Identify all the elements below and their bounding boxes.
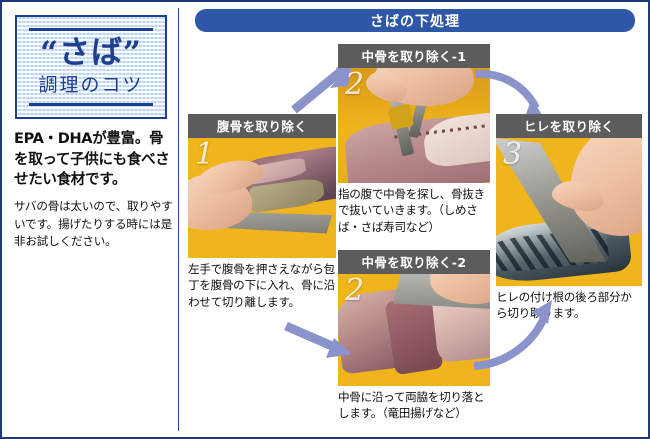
step-1-caption: 左手で腹骨を押さえながら包丁を腹骨の下に入れ、骨に沿わせて切り離します。 xyxy=(188,258,336,310)
logo-subtitle: 調理のコツ xyxy=(38,70,143,97)
page-title: さばの下処理 xyxy=(195,9,635,32)
logo-rule-bottom xyxy=(29,103,153,106)
sidebar-body-text: サバの骨は太いので、取りやすいです。揚げたりする時には是非お試しください。 xyxy=(14,198,176,251)
step-1-photo: 1 xyxy=(188,138,336,258)
step-4-caption: 中骨に沿って両脇を切り落とします。（竜田揚げなど） xyxy=(338,386,490,422)
infographic-page: “さば” 調理のコツ EPA・DHAが豊富。骨を取って子供にも食べさせたい食材で… xyxy=(0,0,650,439)
tweezer-grip xyxy=(388,104,414,130)
step-1-number: 1 xyxy=(195,140,214,170)
step-2-number: 2 xyxy=(345,70,364,100)
logo-box: “さば” 調理のコツ xyxy=(15,15,167,119)
step-2-caption: 指の腹で中骨を探し、骨抜きで抜いていきます。（しめさば・さば寿司など） xyxy=(338,183,490,235)
step-4-header: 中骨を取り除く-2 xyxy=(338,250,490,274)
arrow-step4-to-step3 xyxy=(470,298,558,374)
logo-rule-top xyxy=(29,28,153,31)
step-3-header: ヒレを取り除く xyxy=(496,114,642,138)
step-3-number: 3 xyxy=(503,140,522,170)
step-card-2[interactable]: 中骨を取り除く-1 2 指の腹で中骨を探し、骨抜きで抜いていきます。（しめさば・… xyxy=(338,44,490,235)
step-card-3[interactable]: ヒレを取り除く 3 ヒレの付け根の後ろ部分から切り取ります。 xyxy=(496,114,642,322)
step-4-number: 2 xyxy=(345,276,364,306)
step-card-1[interactable]: 腹骨を取り除く 1 左手で腹骨を押さえながら包丁を腹骨の下に入れ、骨に沿わせて切… xyxy=(188,114,336,310)
step-2-photo: 2 xyxy=(338,68,490,183)
logo-title: “さば” xyxy=(40,37,142,70)
arrow-step1-to-step4 xyxy=(284,320,356,366)
step-3-photo: 3 xyxy=(496,138,642,286)
step-card-4[interactable]: 中骨を取り除く-2 2 中骨に沿って両脇を切り落とします。（竜田揚げなど） xyxy=(338,250,490,422)
step-2-header: 中骨を取り除く-1 xyxy=(338,44,490,68)
sidebar-lede-text: EPA・DHAが豊富。骨を取って子供にも食べさせたい食材です。 xyxy=(14,129,174,191)
step-1-header: 腹骨を取り除く xyxy=(188,114,336,138)
step-4-photo: 2 xyxy=(338,274,490,386)
vertical-divider xyxy=(178,8,179,431)
process-panel: さばの下処理 腹骨を取り除く xyxy=(180,2,650,437)
sidebar: “さば” 調理のコツ EPA・DHAが豊富。骨を取って子供にも食べさせたい食材で… xyxy=(2,2,178,437)
